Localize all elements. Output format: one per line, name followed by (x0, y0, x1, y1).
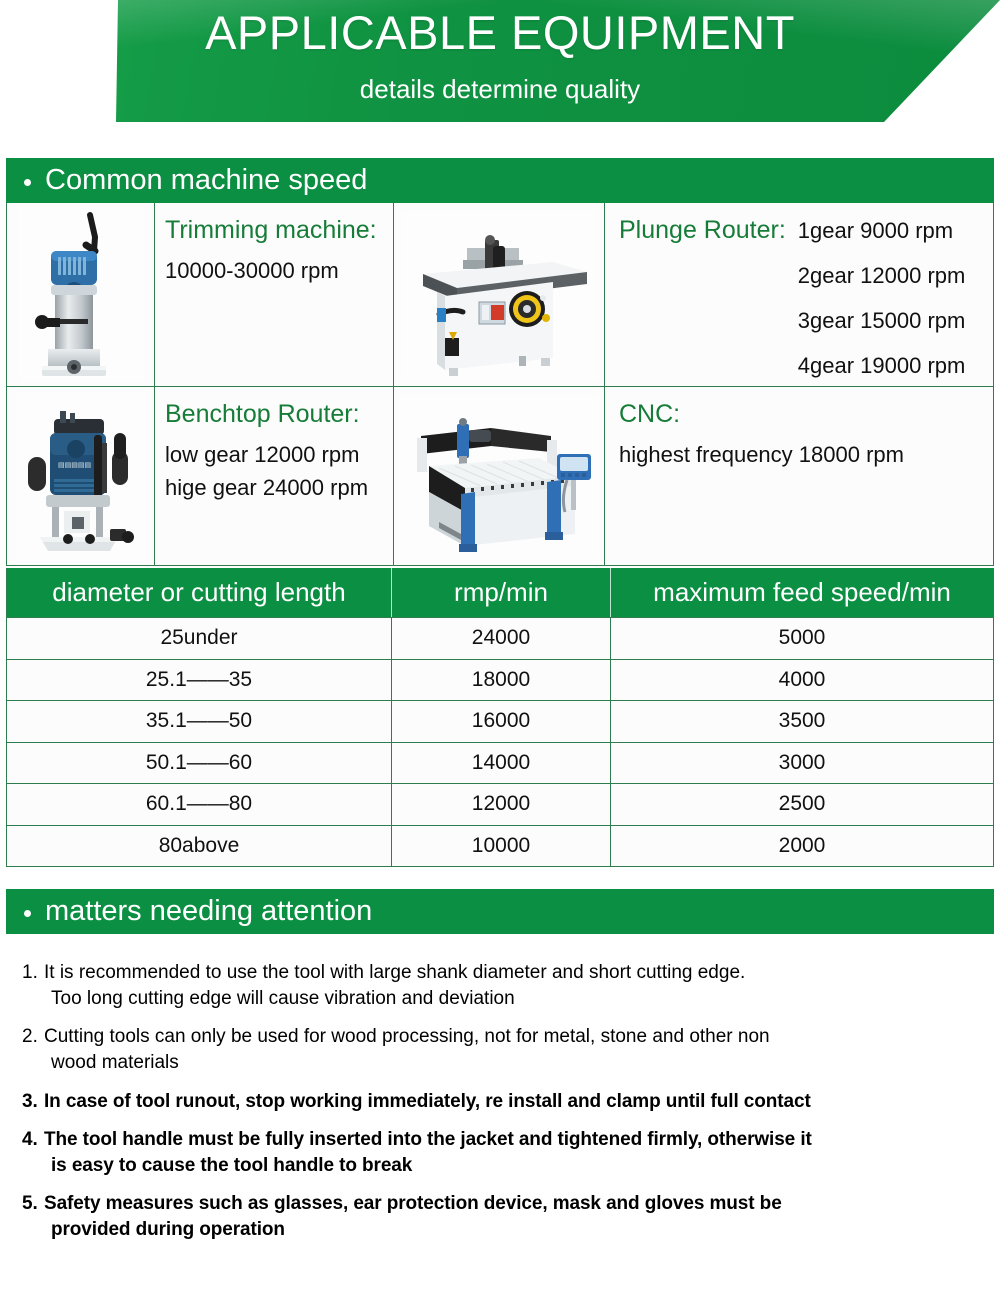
banner-text-group: APPLICABLE EQUIPMENT details determine q… (0, 0, 1000, 122)
plunge-router-gear-3: 3gear 15000 rpm (798, 310, 966, 332)
cell-diameter: 35.1——50 (7, 701, 392, 742)
cell-feed: 4000 (611, 660, 993, 701)
column-header-rpm: rmp/min (392, 568, 611, 617)
note-item: 4. The tool handle must be fully inserte… (0, 1127, 1000, 1178)
cell-feed: 3000 (611, 743, 993, 784)
plunge-router-gear-2: 2gear 12000 rpm (798, 265, 966, 287)
cnc-router-photo (399, 394, 599, 559)
benchtop-router-text-cell: Benchtop Router: low gear 12000 rpm hige… (155, 387, 394, 565)
benchtop-router-title: Benchtop Router: (165, 401, 393, 429)
note-number: 3. (22, 1089, 44, 1115)
table-row: 50.1——60 14000 3000 (7, 742, 993, 784)
trim-router-photo (18, 207, 144, 382)
bullet-dot-icon (24, 179, 31, 186)
attention-notes-list: 1. It is recommended to use the tool wit… (0, 960, 1000, 1256)
note-number: 2. (22, 1024, 44, 1075)
cell-rpm: 14000 (392, 743, 611, 784)
column-header-feed-speed: maximum feed speed/min (611, 568, 993, 617)
page-root: APPLICABLE EQUIPMENT details determine q… (0, 0, 1000, 1305)
note-line-1: It is recommended to use the tool with l… (44, 962, 745, 983)
note-text: It is recommended to use the tool with l… (44, 960, 745, 1011)
table-row: 60.1——80 12000 2500 (7, 783, 993, 825)
plunge-router-photo: ▤▤▤▤▤ (16, 391, 146, 561)
cell-feed: 3500 (611, 701, 993, 742)
table-row: 80above 10000 2000 (7, 825, 993, 867)
note-line-1: The tool handle must be fully inserted i… (44, 1129, 812, 1150)
benchtop-router-high-gear: hige gear 24000 rpm (165, 476, 393, 501)
machine-speed-grid: Trimming machine: 10000-30000 rpm (6, 203, 994, 566)
note-text: Cutting tools can only be used for wood … (44, 1024, 770, 1075)
cell-rpm: 12000 (392, 784, 611, 825)
table-row: 25.1——35 18000 4000 (7, 659, 993, 701)
cell-diameter: 25.1——35 (7, 660, 392, 701)
note-item: 5. Safety measures such as glasses, ear … (0, 1191, 1000, 1242)
table-row: 35.1——50 16000 3500 (7, 700, 993, 742)
plunge-router-text-cell: Plunge Router: 1gear 9000 rpm 2gear 1200… (605, 203, 993, 386)
cell-diameter: 25under (7, 618, 392, 659)
header-banner: APPLICABLE EQUIPMENT details determine q… (0, 0, 1000, 122)
banner-subtitle: details determine quality (0, 56, 1000, 102)
note-number: 5. (22, 1191, 44, 1242)
benchtop-router-low-gear: low gear 12000 rpm (165, 443, 393, 468)
cell-diameter: 50.1——60 (7, 743, 392, 784)
cnc-text-cell: CNC: highest frequency 18000 rpm (605, 387, 993, 565)
cnc-title: CNC: (619, 401, 993, 429)
section-header-machine-speed: Common machine speed (6, 158, 994, 203)
plunge-router-gear-list: 1gear 9000 rpm 2gear 12000 rpm 3gear 150… (798, 217, 966, 377)
cell-rpm: 24000 (392, 618, 611, 659)
plunge-router-title: Plunge Router: (619, 217, 786, 245)
cell-feed: 2500 (611, 784, 993, 825)
bullet-dot-icon (24, 910, 31, 917)
table-row: 25under 24000 5000 (7, 617, 993, 659)
column-header-diameter: diameter or cutting length (7, 568, 392, 617)
note-item: 3. In case of tool runout, stop working … (0, 1089, 1000, 1115)
trimming-machine-speed: 10000-30000 rpm (165, 259, 393, 284)
banner-title: APPLICABLE EQUIPMENT (0, 0, 1000, 56)
section-header-attention: matters needing attention (6, 889, 994, 934)
plunge-router-gear-4: 4gear 19000 rpm (798, 355, 966, 377)
note-text: The tool handle must be fully inserted i… (44, 1127, 812, 1178)
note-text: In case of tool runout, stop working imm… (44, 1089, 811, 1115)
note-number: 1. (22, 960, 44, 1011)
spindle-moulder-photo-cell (394, 203, 605, 386)
note-item: 2. Cutting tools can only be used for wo… (0, 1024, 1000, 1075)
machine-row: ▤▤▤▤▤ (7, 386, 993, 565)
note-line-1: Safety measures such as glasses, ear pro… (44, 1193, 782, 1214)
cell-diameter: 60.1——80 (7, 784, 392, 825)
speed-feed-table: diameter or cutting length rmp/min maxim… (6, 568, 994, 867)
plunge-router-photo-cell: ▤▤▤▤▤ (7, 387, 155, 565)
note-line-1: In case of tool runout, stop working imm… (44, 1091, 811, 1112)
note-item: 1. It is recommended to use the tool wit… (0, 960, 1000, 1011)
plunge-router-gear-1: 1gear 9000 rpm (798, 220, 966, 242)
cnc-router-photo-cell (394, 387, 605, 565)
cell-rpm: 18000 (392, 660, 611, 701)
cnc-speed: highest frequency 18000 rpm (619, 443, 993, 468)
note-text: Safety measures such as glasses, ear pro… (44, 1191, 782, 1242)
section-header-machine-speed-label: Common machine speed (45, 166, 367, 195)
table-header-row: diameter or cutting length rmp/min maxim… (7, 568, 993, 617)
machine-row: Trimming machine: 10000-30000 rpm (7, 203, 993, 386)
cell-diameter: 80above (7, 826, 392, 867)
svg-text:▤▤▤▤▤: ▤▤▤▤▤ (58, 462, 91, 469)
note-line-2: wood materials (44, 1050, 770, 1076)
cell-rpm: 10000 (392, 826, 611, 867)
section-header-attention-label: matters needing attention (45, 897, 372, 926)
note-line-2: Too long cutting edge will cause vibrati… (44, 986, 745, 1012)
note-line-2: provided during operation (44, 1217, 782, 1243)
trim-router-photo-cell (7, 203, 155, 386)
cell-feed: 2000 (611, 826, 993, 867)
cell-feed: 5000 (611, 618, 993, 659)
trimming-machine-title: Trimming machine: (165, 217, 393, 245)
cell-rpm: 16000 (392, 701, 611, 742)
spindle-moulder-photo (401, 210, 597, 380)
note-number: 4. (22, 1127, 44, 1178)
trimming-machine-text-cell: Trimming machine: 10000-30000 rpm (155, 203, 394, 386)
note-line-1: Cutting tools can only be used for wood … (44, 1026, 770, 1047)
note-line-2: is easy to cause the tool handle to brea… (44, 1153, 812, 1179)
